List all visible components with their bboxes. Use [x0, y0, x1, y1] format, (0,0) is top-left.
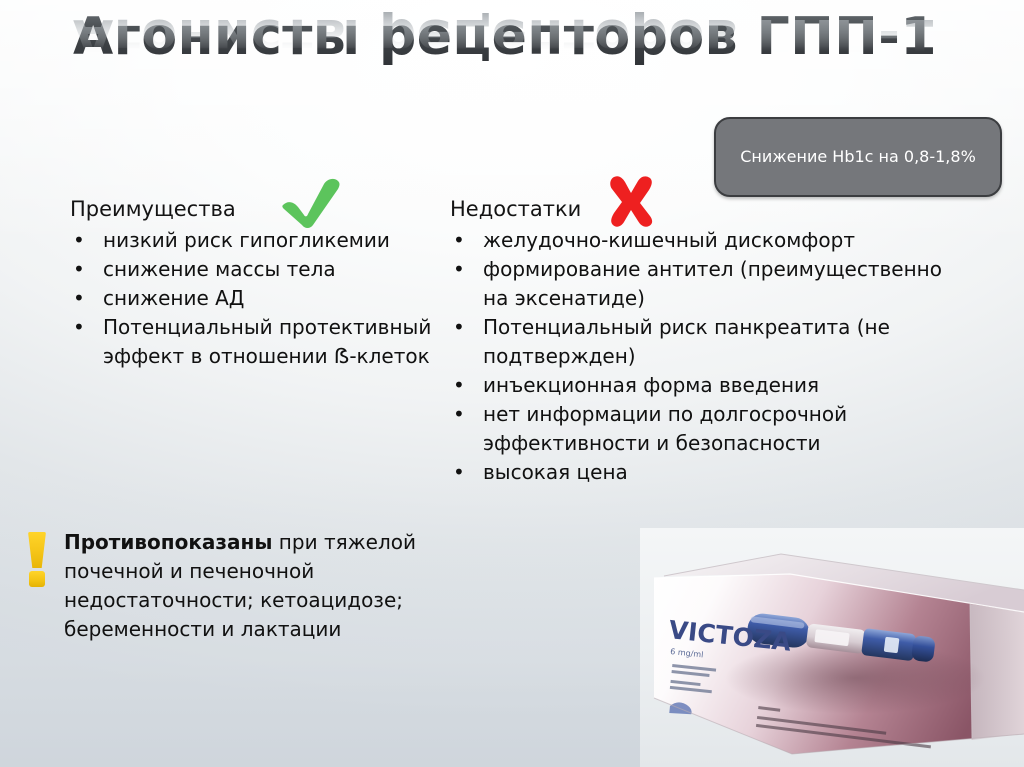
contraindications-text: Противопоказаны при тяжелой почечной и п…: [64, 528, 446, 644]
contraindications-block: Противопоказаны при тяжелой почечной и п…: [26, 528, 446, 644]
yellow-exclamation-icon: [26, 532, 48, 588]
disadvantages-column: Недостатки желудочно-кишечный дискомфорт…: [446, 196, 946, 487]
list-item: высокая цена: [446, 458, 946, 487]
list-item: инъекционная форма введения: [446, 371, 946, 400]
slide-canvas: Агонисты рецепторов ГПП-1 Агонисты рецеп…: [0, 0, 1024, 767]
list-item: Потенциальный риск панкреатита (не подтв…: [446, 313, 946, 371]
slide-title-reflection: Агонисты рецепторов ГПП-1: [0, 12, 1024, 62]
list-item: желудочно-кишечный дискомфорт: [446, 226, 946, 255]
disadvantages-heading: Недостатки: [450, 196, 946, 222]
list-item: формирование антител (преимущественно на…: [446, 255, 946, 313]
hba1c-reduction-text: Снижение Hb1c на 0,8-1,8%: [730, 147, 986, 167]
advantages-heading: Преимущества: [70, 196, 436, 222]
disadvantages-list: желудочно-кишечный дискомфорт формирован…: [446, 226, 946, 487]
advantages-list: низкий риск гипогликемии снижение массы …: [66, 226, 436, 371]
hba1c-reduction-callout: Снижение Hb1c на 0,8-1,8%: [714, 117, 1002, 197]
victoza-pen-box-photo: VICTOZA 6 mg/ml: [640, 528, 1024, 767]
list-item: снижение АД: [66, 284, 436, 313]
list-item: Потенциальный протективный эффект в отно…: [66, 313, 436, 371]
slide-title: Агонисты рецепторов ГПП-1 Агонисты рецеп…: [0, 6, 1024, 106]
list-item: нет информации по долгосрочной эффективн…: [446, 400, 946, 458]
list-item: снижение массы тела: [66, 255, 436, 284]
list-item: низкий риск гипогликемии: [66, 226, 436, 255]
contraindications-lead: Противопоказаны: [64, 530, 272, 554]
advantages-column: Преимущества низкий риск гипогликемии сн…: [66, 196, 436, 371]
